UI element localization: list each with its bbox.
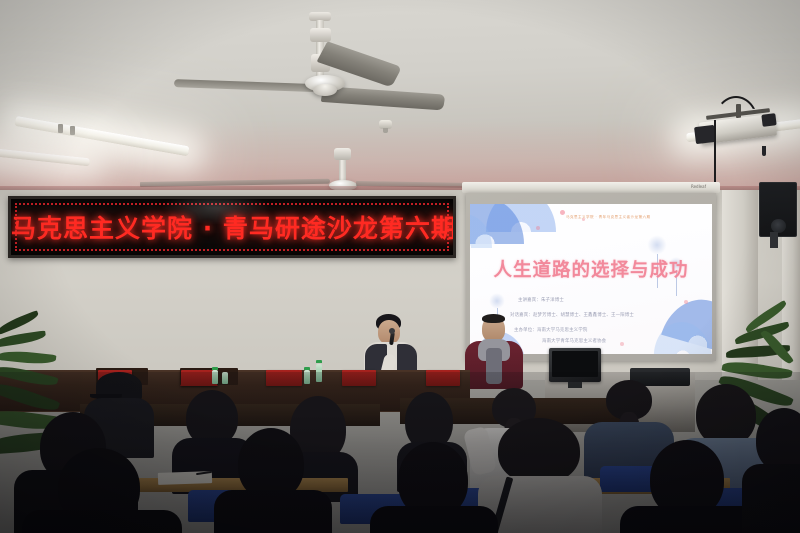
slide-header-strip: 马克思主义学院 · 青年马克思主义者沙龙第六期	[566, 215, 651, 220]
slide-dot-4	[684, 300, 688, 304]
slide-line-2: 对话嘉宾：赵梦芳博士、胡慧博士、王鑫鑫博士、王一阳博士	[510, 312, 634, 318]
speaker-right-inner	[486, 348, 502, 384]
slide-dot-2	[536, 226, 540, 230]
slide-line-3: 主办单位：海南大学马克思主义学院	[514, 327, 587, 333]
monitor-screen	[552, 351, 598, 377]
slide-line-4: 海南大学青年马克思主义者协会	[542, 338, 606, 344]
screen-case-brand-label: Redleaf	[691, 184, 706, 189]
water-bottle-cap-4	[316, 360, 322, 363]
fan-lower-canopy	[334, 148, 351, 160]
slide-dandelion-1	[646, 234, 668, 256]
speaker-cone	[771, 219, 786, 233]
audience-front-corner-right-head	[756, 408, 800, 472]
water-bottle-cap-1	[212, 367, 218, 370]
speaker-right-hair	[482, 314, 505, 323]
slide-title: 人生道路的选择与成功	[470, 256, 712, 282]
nameplate-4	[266, 370, 302, 386]
tube-bracket-left-b	[70, 126, 75, 135]
microphone-head	[389, 328, 395, 334]
projector-rear-port	[761, 113, 776, 127]
water-bottle-3	[304, 370, 310, 384]
podium-monitor	[549, 348, 601, 382]
smoke-detector	[379, 120, 392, 129]
monitor-stand	[568, 382, 582, 388]
audience-front-left-2-body	[22, 510, 182, 533]
presentation-slide: 马克思主义学院 · 青年马克思主义者沙龙第六期 人生道路的选择与成功 主讲嘉宾：…	[470, 204, 712, 354]
led-banner-text: 马克思主义学院 · 青马研途沙龙第六期	[11, 209, 453, 245]
audience-front-corner-right-body	[742, 464, 800, 533]
slide-fan-decoration-2	[486, 204, 556, 232]
audience-front-far-right-body	[620, 506, 760, 533]
audience-front-mid-body	[214, 490, 332, 533]
audience-white-sweater-head	[498, 418, 580, 484]
nameplate-6	[426, 370, 460, 386]
water-bottle-2	[222, 372, 228, 384]
tube-bracket-left-a	[58, 124, 63, 133]
water-bottle-1	[212, 370, 218, 384]
slide-dot-1	[560, 210, 565, 215]
slide-dot-5	[620, 342, 624, 346]
audience-light-denim-head	[696, 384, 756, 446]
fan-upper-light-globe	[313, 84, 337, 96]
led-banner: 马克思主义学院 · 青马研途沙龙第六期	[8, 196, 456, 258]
projection-screen-case: Redleaf	[462, 182, 720, 193]
lecture-hall-photo: 马克思主义学院 · 青马研途沙龙第六期 Redleaf	[0, 0, 800, 533]
wall-mounted-speaker	[759, 182, 797, 237]
water-bottle-4	[316, 364, 322, 382]
nameplate-5	[342, 370, 376, 386]
water-bottle-cap-3	[304, 367, 310, 370]
ceiling-hook	[762, 146, 766, 156]
projector-lens-housing	[694, 125, 716, 144]
slide-line-1: 主讲嘉宾：朱子洋博士	[518, 297, 564, 303]
fan-upper-canopy	[310, 28, 331, 42]
audience-front-right-body	[370, 506, 498, 533]
speaker-bracket	[770, 232, 778, 248]
